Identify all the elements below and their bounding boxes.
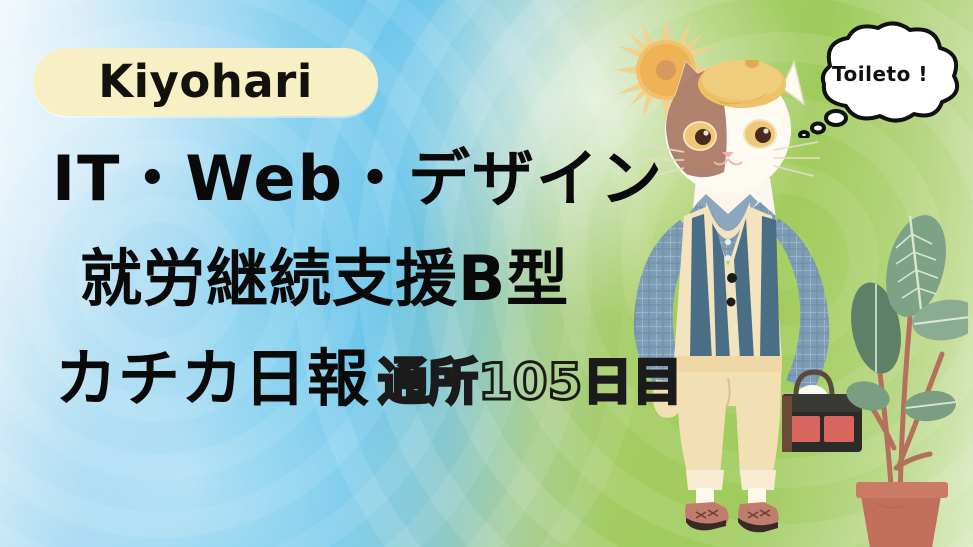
thought-bubble: Toileto ! [790,18,966,138]
brand-badge-label: Kiyohari [98,59,313,104]
banner-canvas: Kiyohari IT・Web・デザイン 就労継続支援B型 カチカ日報 通所10… [0,0,973,547]
headline-line-3-sub: 通所105日目 [378,357,682,407]
potted-plant [838,168,968,547]
beret-hat [698,60,786,108]
shoe [738,502,779,532]
headline-line-3: カチカ日報 通所105日目 [55,348,682,410]
shoe [685,502,728,530]
headline-line-2: 就労継続支援B型 [80,248,569,310]
brand-badge: Kiyohari [33,48,378,116]
headline-line-3-main: カチカ日報 [55,348,370,410]
headline-line-1: IT・Web・デザイン [52,148,664,210]
